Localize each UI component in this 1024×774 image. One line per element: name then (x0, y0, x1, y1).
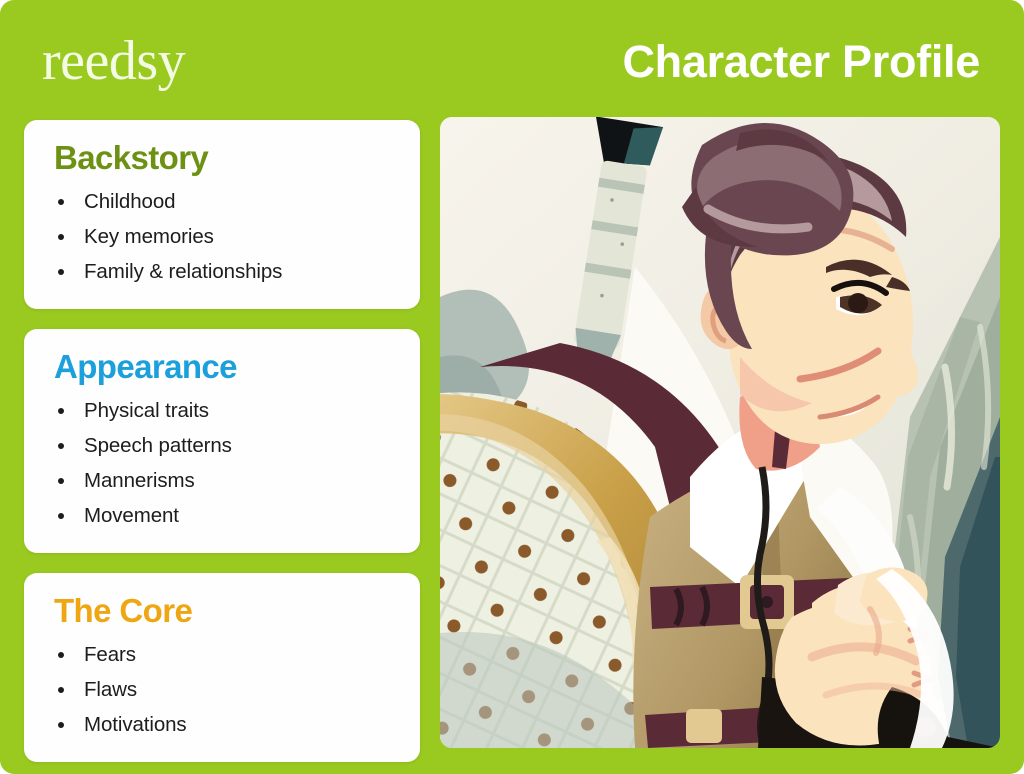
list-item: Key memories (54, 219, 398, 254)
header-bar: reedsy Character Profile (0, 0, 1024, 112)
list-item: Childhood (54, 184, 398, 219)
bullet-icon (58, 408, 64, 414)
list-item: Family & relationships (54, 254, 398, 289)
bullet-icon (58, 513, 64, 519)
card-appearance[interactable]: Appearance Physical traits Speech patter… (24, 329, 420, 553)
list-item-label: Mannerisms (84, 469, 195, 492)
bullet-icon (58, 652, 64, 658)
bullet-icon (58, 687, 64, 693)
list-item-label: Movement (84, 504, 179, 527)
list-item-label: Family & relationships (84, 260, 282, 283)
bullet-icon (58, 199, 64, 205)
list-item-label: Fears (84, 643, 136, 666)
bullet-icon (58, 234, 64, 240)
card-the-core-list: Fears Flaws Motivations (54, 637, 398, 742)
list-item-label: Physical traits (84, 399, 209, 422)
bullet-icon (58, 722, 64, 728)
list-item-label: Flaws (84, 678, 137, 701)
card-appearance-list: Physical traits Speech patterns Manneris… (54, 393, 398, 533)
list-item: Flaws (54, 672, 398, 707)
card-appearance-title: Appearance (54, 347, 398, 387)
page-title: Character Profile (622, 38, 980, 86)
list-item: Speech patterns (54, 428, 398, 463)
list-item-label: Childhood (84, 190, 175, 213)
bullet-icon (58, 269, 64, 275)
card-backstory-list: Childhood Key memories Family & relation… (54, 184, 398, 289)
warrior-character-illustration (440, 117, 1000, 748)
card-the-core-title: The Core (54, 591, 398, 631)
bullet-icon (58, 478, 64, 484)
list-item: Fears (54, 637, 398, 672)
list-item: Movement (54, 498, 398, 533)
card-backstory[interactable]: Backstory Childhood Key memories Family … (24, 120, 420, 309)
card-the-core[interactable]: The Core Fears Flaws Motivations (24, 573, 420, 762)
reedsy-logo[interactable]: reedsy (42, 33, 185, 89)
character-profile-infographic: reedsy Character Profile Backstory Child… (0, 0, 1024, 774)
list-item: Physical traits (54, 393, 398, 428)
cards-column: Backstory Childhood Key memories Family … (24, 120, 420, 774)
list-item-label: Motivations (84, 713, 187, 736)
list-item-label: Speech patterns (84, 434, 232, 457)
list-item-label: Key memories (84, 225, 214, 248)
list-item: Motivations (54, 707, 398, 742)
list-item: Mannerisms (54, 463, 398, 498)
card-backstory-title: Backstory (54, 138, 398, 178)
warrior-illustration-svg (440, 117, 1000, 748)
bullet-icon (58, 443, 64, 449)
